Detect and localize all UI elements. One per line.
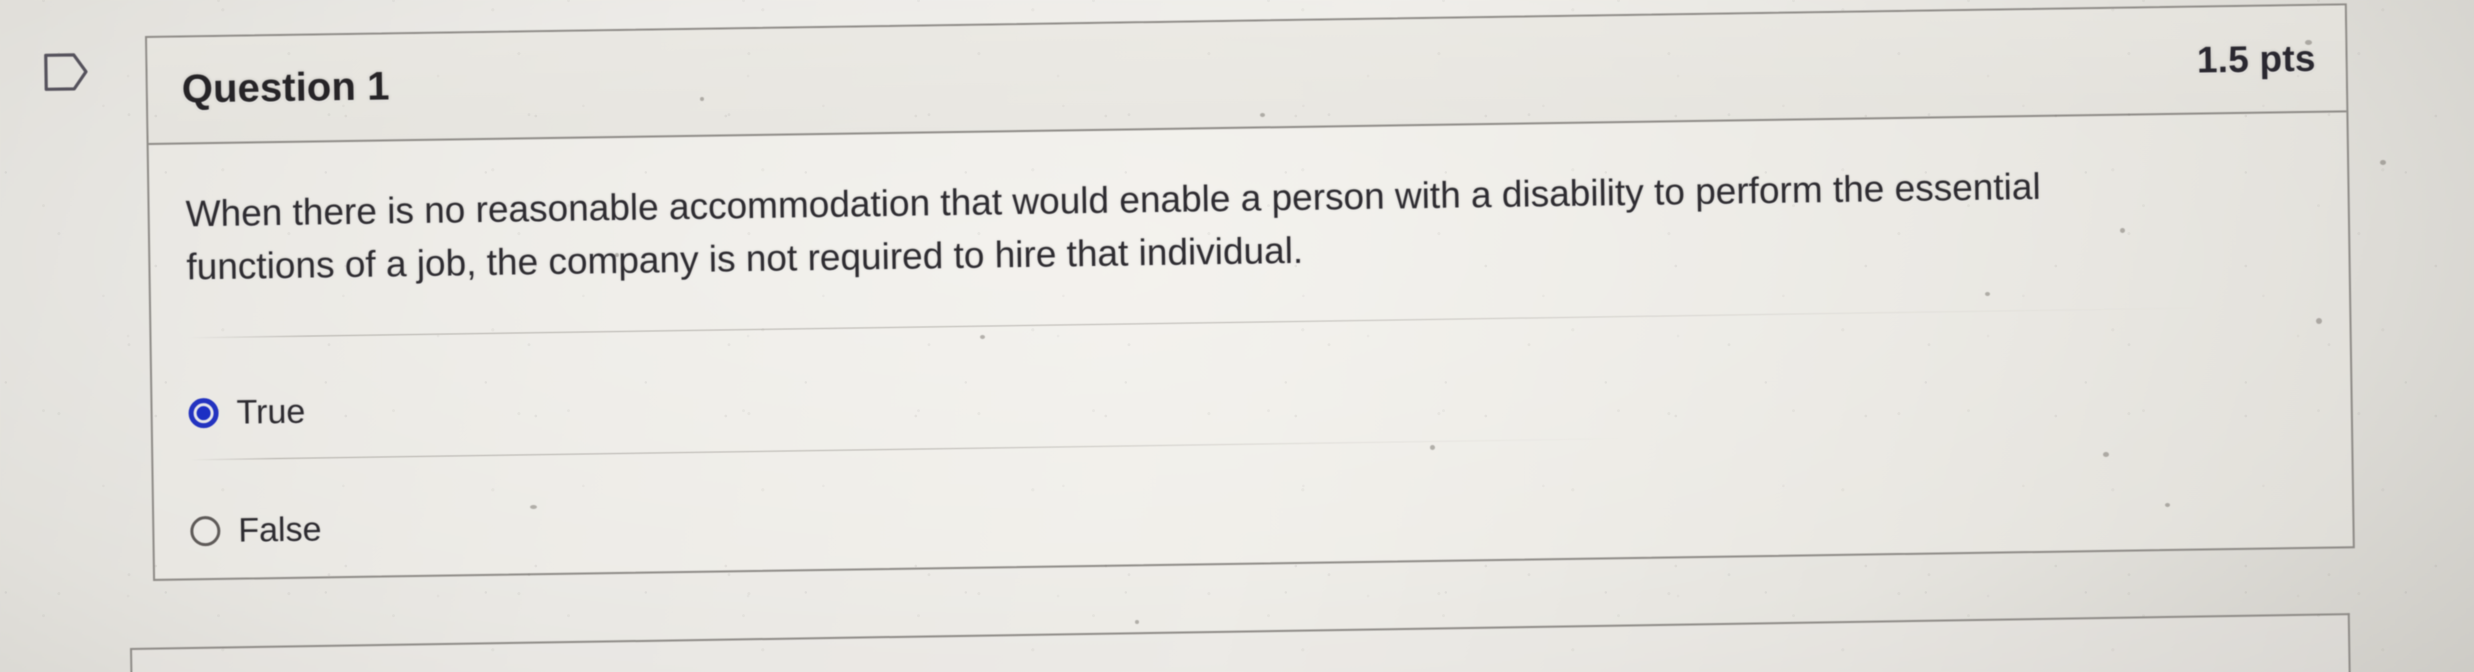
flag-bookmark-icon[interactable] <box>44 52 89 93</box>
page-title: Question 1 <box>181 64 389 112</box>
answer-option-false[interactable]: False <box>189 458 1191 591</box>
answer-options-list: True False <box>188 340 1191 591</box>
answer-option-label: True <box>236 392 305 432</box>
dust-speck <box>1135 620 1139 624</box>
radio-button-true[interactable] <box>188 398 218 428</box>
question-card: Question 1 1.5 pts When there is no reas… <box>145 3 2355 581</box>
radio-button-false[interactable] <box>190 516 220 546</box>
answer-option-true[interactable]: True <box>188 340 1190 473</box>
answer-option-label: False <box>238 510 322 550</box>
screenshot-photo: Question 1 1.5 pts When there is no reas… <box>0 0 2474 672</box>
dust-speck <box>2380 160 2386 165</box>
question-prompt: When there is no reasonable accommodatio… <box>149 159 2146 294</box>
question-points: 1.5 pts <box>2197 37 2316 81</box>
next-question-card-partial <box>130 613 2351 672</box>
divider-above-first-option <box>187 308 2197 339</box>
question-card-body: When there is no reasonable accommodatio… <box>149 112 2349 294</box>
